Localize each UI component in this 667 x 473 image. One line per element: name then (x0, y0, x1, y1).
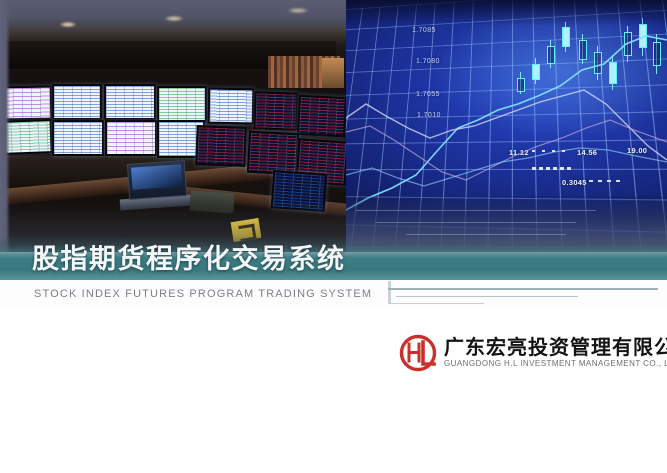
page-subtitle: STOCK INDEX FUTURES PROGRAM TRADING SYST… (34, 288, 372, 300)
decor-rule-4 (388, 303, 484, 304)
company-name-en: GUANGDONG H.L INVESTMENT MANAGEMENT CO.,… (444, 359, 667, 368)
decor-rule-1 (396, 281, 658, 284)
financial-candlestick-graphic: 1.7085 1.7080 1.7055 1.7010 11.12 14.56 … (346, 0, 667, 252)
company-logo-lockup: 广东宏亮投资管理有限公司 GUANGDONG H.L INVESTMENT MA… (398, 330, 664, 380)
hl-circle-monogram-icon (398, 333, 438, 373)
chart-top-fade (346, 0, 667, 26)
company-name-cn: 广东宏亮投资管理有限公司 (444, 331, 667, 360)
reflection-line (406, 234, 566, 235)
reflection-line (356, 210, 596, 211)
photo-gradient-overlay (0, 0, 346, 252)
decor-rule-3 (396, 296, 578, 297)
page-title: 股指期货程序化交易系统 (32, 243, 552, 277)
trading-desk-photograph (0, 0, 346, 252)
reflection-line (376, 222, 576, 223)
presentation-slide: 1.7085 1.7080 1.7055 1.7010 11.12 14.56 … (0, 0, 667, 473)
hero-media-band: 1.7085 1.7080 1.7055 1.7010 11.12 14.56 … (0, 0, 667, 252)
decor-rule-2 (388, 288, 658, 290)
photo-left-edge-fade (0, 0, 10, 252)
decor-tick (388, 281, 391, 303)
